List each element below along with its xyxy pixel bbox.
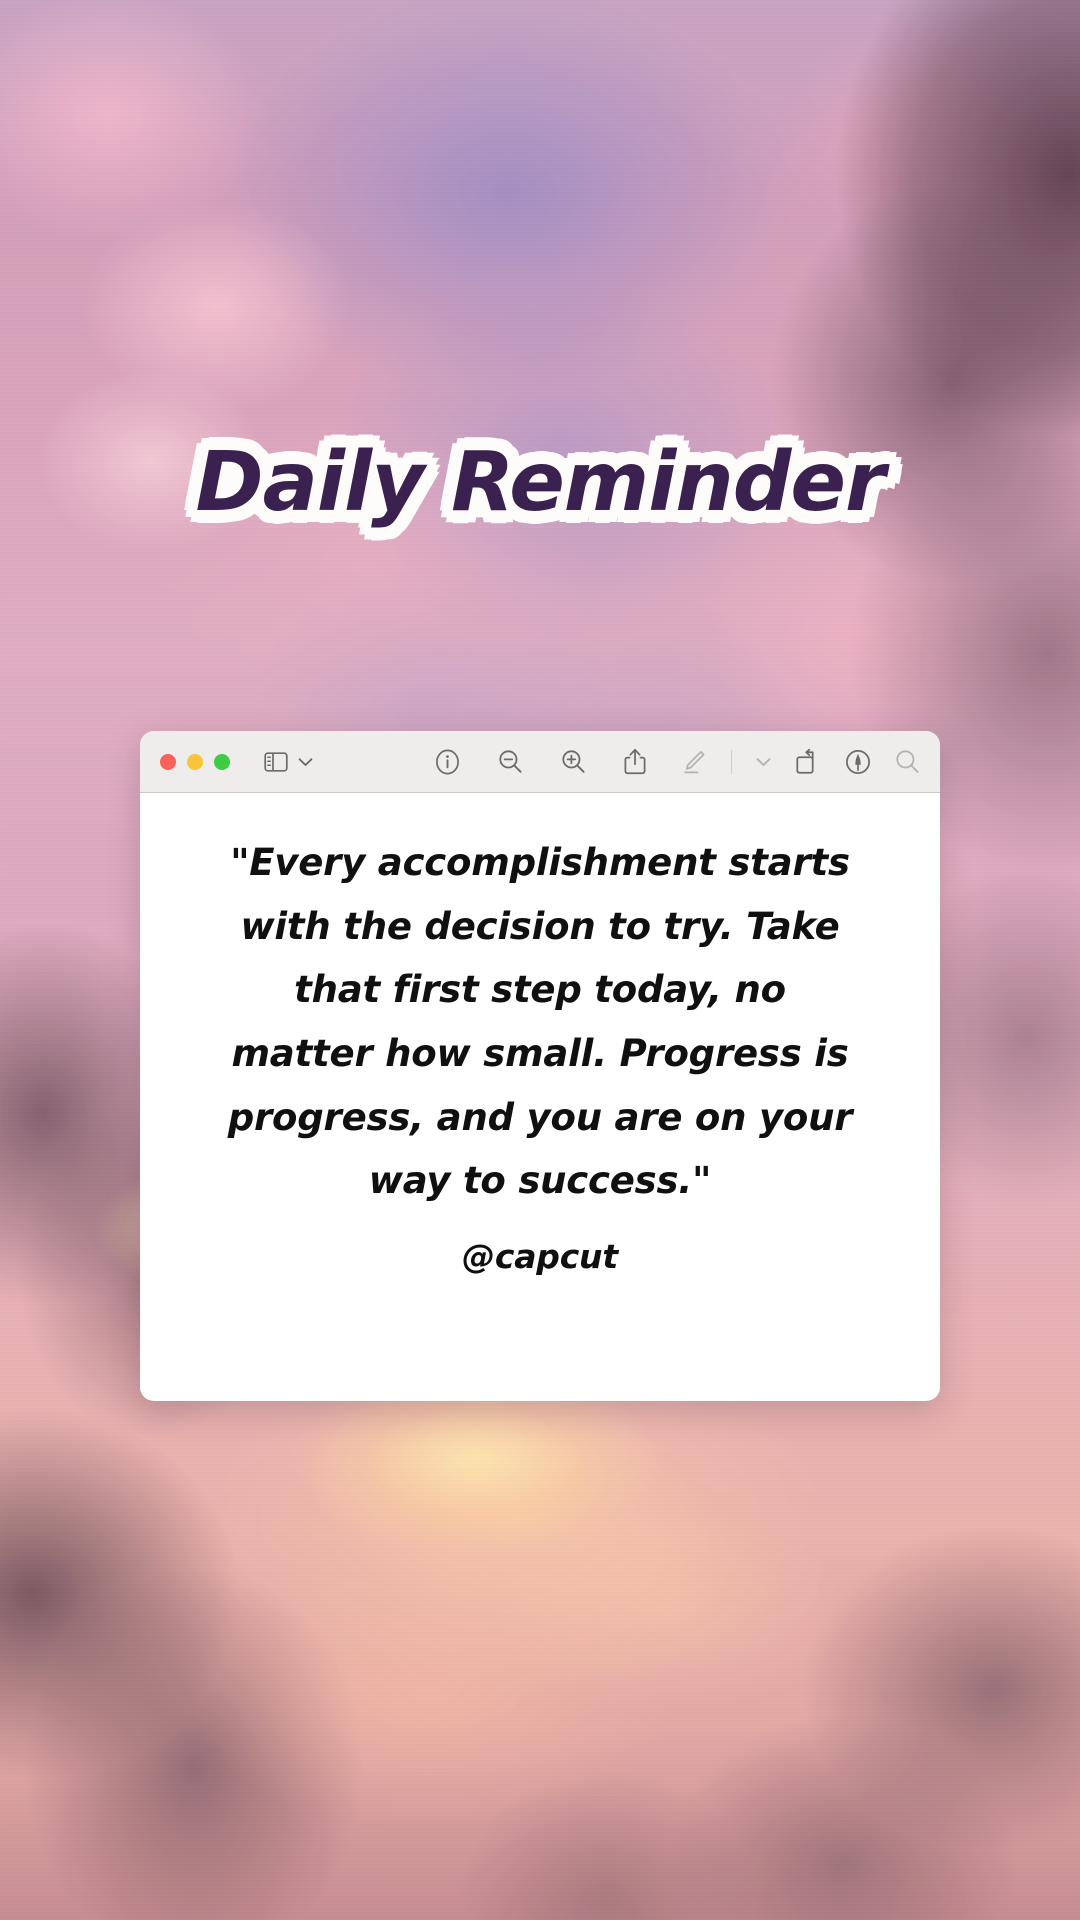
preview-window: "Every accomplishment starts with the de… <box>140 731 940 1401</box>
poster-canvas: Daily Reminder <box>0 0 1080 1920</box>
maximize-button[interactable] <box>214 754 230 770</box>
toolbar-right-group <box>682 749 920 775</box>
quote-text: "Every accomplishment starts with the de… <box>220 831 860 1213</box>
attribution-text: @capcut <box>462 1237 618 1276</box>
window-toolbar <box>140 731 940 793</box>
sidebar-toggle-group[interactable] <box>264 752 313 772</box>
annotate-pen-icon[interactable] <box>845 749 871 775</box>
search-icon[interactable] <box>895 749 920 774</box>
chevron-down-icon[interactable] <box>298 757 313 767</box>
markup-chevron-down-icon[interactable] <box>756 757 771 767</box>
markup-pencil-icon[interactable] <box>682 749 707 775</box>
share-icon[interactable] <box>624 748 646 775</box>
minimize-button[interactable] <box>187 754 203 770</box>
sidebar-icon[interactable] <box>264 752 288 772</box>
close-button[interactable] <box>160 754 176 770</box>
toolbar-divider <box>731 750 732 774</box>
zoom-out-icon[interactable] <box>498 749 523 774</box>
rotate-icon[interactable] <box>795 749 821 775</box>
traffic-light-group <box>160 754 230 770</box>
document-content: "Every accomplishment starts with the de… <box>140 793 940 1400</box>
title-sticker: Daily Reminder <box>0 430 1080 536</box>
page-title: Daily Reminder <box>170 430 911 536</box>
zoom-in-icon[interactable] <box>561 749 586 774</box>
info-icon[interactable] <box>435 749 460 775</box>
